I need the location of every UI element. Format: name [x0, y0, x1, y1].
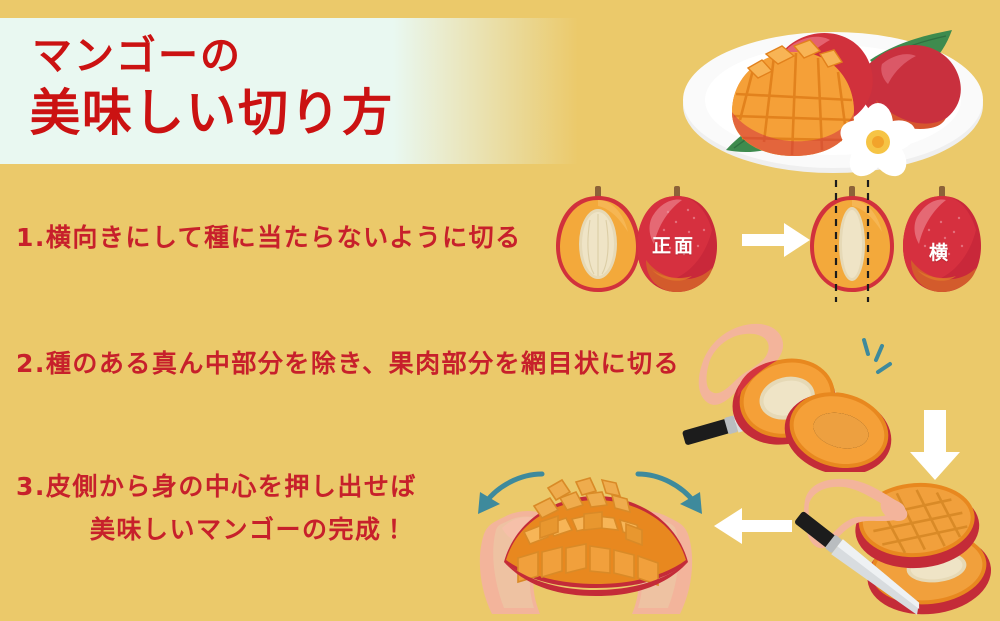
step-1-text: 1.横向きにして種に当たらないように切る — [16, 218, 522, 254]
curved-arrows-teal-icon — [470, 462, 710, 532]
step-2-text: 2.種のある真ん中部分を除き、果肉部分を網目状に切る — [16, 344, 680, 380]
hero-plate-illustration — [670, 0, 1000, 180]
mango-cross-section-front — [552, 186, 644, 296]
step-3-line-1: 3.皮側から身の中心を押し出せば — [16, 472, 417, 501]
whole-mango-front — [634, 186, 720, 296]
infographic-poster: マンゴーの 美味しい切り方 1.横向きにして種に当たらないように切る 正面 — [0, 0, 1000, 621]
arrow-right-white-icon — [742, 222, 812, 258]
step-3-text: 3.皮側から身の中心を押し出せば 美味しいマンゴーの完成！ — [16, 465, 417, 551]
page-title-line-1: マンゴーの — [30, 30, 394, 82]
whole-mango-side — [900, 186, 984, 296]
hand-cutting-mango-illustration — [676, 312, 926, 472]
title-banner: マンゴーの 美味しい切り方 — [0, 18, 578, 164]
hand-scoring-mango-grid-illustration — [795, 462, 1000, 621]
mango-cross-section-side-with-cut-lines — [806, 178, 898, 304]
step-3-line-2: 美味しいマンゴーの完成！ — [16, 508, 417, 551]
page-title-line-2: 美味しい切り方 — [30, 82, 394, 144]
